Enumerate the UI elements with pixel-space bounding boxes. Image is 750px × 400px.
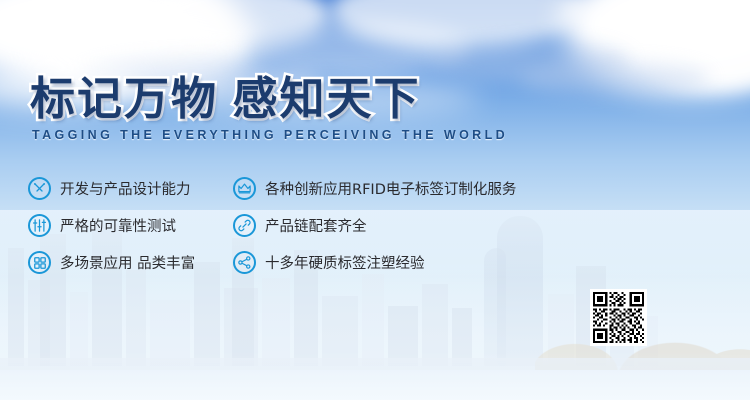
qr-code-image <box>593 292 644 343</box>
feature-row: 多场景应用 品类丰富 十多年硬质标签注塑经验 <box>28 244 588 281</box>
headline-title: 标记万物 感知天下 <box>30 76 421 121</box>
feature-item: 产品链配套齐全 <box>233 214 367 237</box>
feature-row: 开发与产品设计能力 各种创新应用RFID电子标签订制化服务 <box>28 170 588 207</box>
feature-list: 开发与产品设计能力 各种创新应用RFID电子标签订制化服务 <box>28 170 588 281</box>
feature-item: 多场景应用 品类丰富 <box>28 251 233 274</box>
feature-label: 各种创新应用RFID电子标签订制化服务 <box>265 178 516 199</box>
tools-icon <box>28 177 51 200</box>
feature-label: 产品链配套齐全 <box>265 215 367 236</box>
feature-item: 开发与产品设计能力 <box>28 177 233 200</box>
promo-banner: 标记万物 感知天下 TAGGING THE EVERYTHING PERCEIV… <box>0 0 750 400</box>
feature-item: 十多年硬质标签注塑经验 <box>233 251 425 274</box>
feature-label: 十多年硬质标签注塑经验 <box>265 252 425 273</box>
feature-label: 多场景应用 品类丰富 <box>60 252 195 273</box>
feature-label: 严格的可靠性测试 <box>60 215 176 236</box>
feature-row: 严格的可靠性测试 产品链配套齐全 <box>28 207 588 244</box>
feature-label: 开发与产品设计能力 <box>60 178 191 199</box>
crown-icon <box>233 177 256 200</box>
share-icon <box>233 251 256 274</box>
sliders-icon <box>28 214 51 237</box>
link-icon <box>233 214 256 237</box>
feature-item: 各种创新应用RFID电子标签订制化服务 <box>233 177 516 200</box>
feature-item: 严格的可靠性测试 <box>28 214 233 237</box>
qr-code[interactable] <box>590 289 647 346</box>
headline-subtitle: TAGGING THE EVERYTHING PERCEIVING THE WO… <box>32 128 508 142</box>
grid-icon <box>28 251 51 274</box>
